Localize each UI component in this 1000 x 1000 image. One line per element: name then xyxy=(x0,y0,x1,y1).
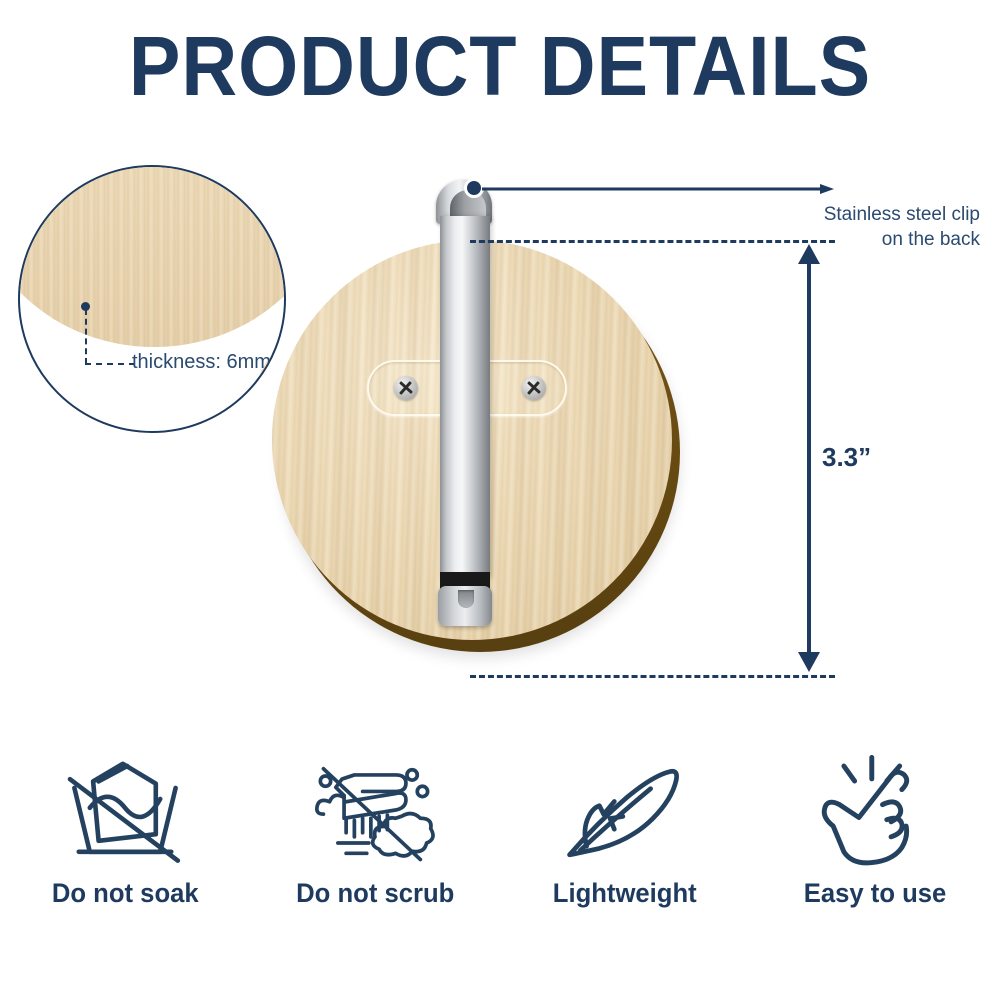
clip-arm xyxy=(440,216,490,578)
thickness-detail-circle: thickness: 6mm xyxy=(18,165,286,433)
feather-icon xyxy=(559,750,691,870)
magnified-board-face xyxy=(18,165,286,347)
thickness-leader-vertical xyxy=(85,309,87,364)
dimension-guide-top xyxy=(470,240,835,243)
thickness-leader-horizontal xyxy=(85,363,135,365)
clip-foot xyxy=(438,586,492,626)
clip-callout-dot xyxy=(464,178,484,198)
feature-do-not-soak: Do not soak xyxy=(0,750,250,950)
feature-label-easy-to-use: Easy to use xyxy=(804,878,947,909)
tap-hand-icon xyxy=(809,750,941,870)
clip-callout-line1: Stainless steel clip xyxy=(690,202,980,227)
product-illustration: thickness: 6mm Stainless steel clip on t… xyxy=(0,140,1000,740)
clip-callout-arrow xyxy=(482,184,834,194)
height-dimension-label: 3.3” xyxy=(822,442,871,473)
feature-easy-to-use: Easy to use xyxy=(750,750,1000,950)
feature-lightweight: Lightweight xyxy=(500,750,750,950)
page-title: PRODUCT DETAILS xyxy=(40,18,960,114)
thickness-label: thickness: 6mm xyxy=(132,349,271,375)
screw-left-icon xyxy=(394,376,418,400)
no-soak-icon xyxy=(59,750,191,870)
feature-do-not-scrub: Do not scrub xyxy=(250,750,500,950)
feature-label-do-not-scrub: Do not scrub xyxy=(296,878,454,909)
clip-foot-notch xyxy=(458,590,474,608)
stainless-steel-clip xyxy=(432,180,494,620)
feature-label-lightweight: Lightweight xyxy=(553,878,697,909)
screw-right-icon xyxy=(522,376,546,400)
clip-callout-label: Stainless steel clip on the back xyxy=(690,202,980,252)
height-dimension-arrow xyxy=(795,244,823,672)
no-scrub-icon xyxy=(309,750,441,870)
dimension-guide-bottom xyxy=(470,675,835,678)
feature-row: Do not soak Do not scrub xyxy=(0,750,1000,950)
feature-label-do-not-soak: Do not soak xyxy=(52,878,199,909)
